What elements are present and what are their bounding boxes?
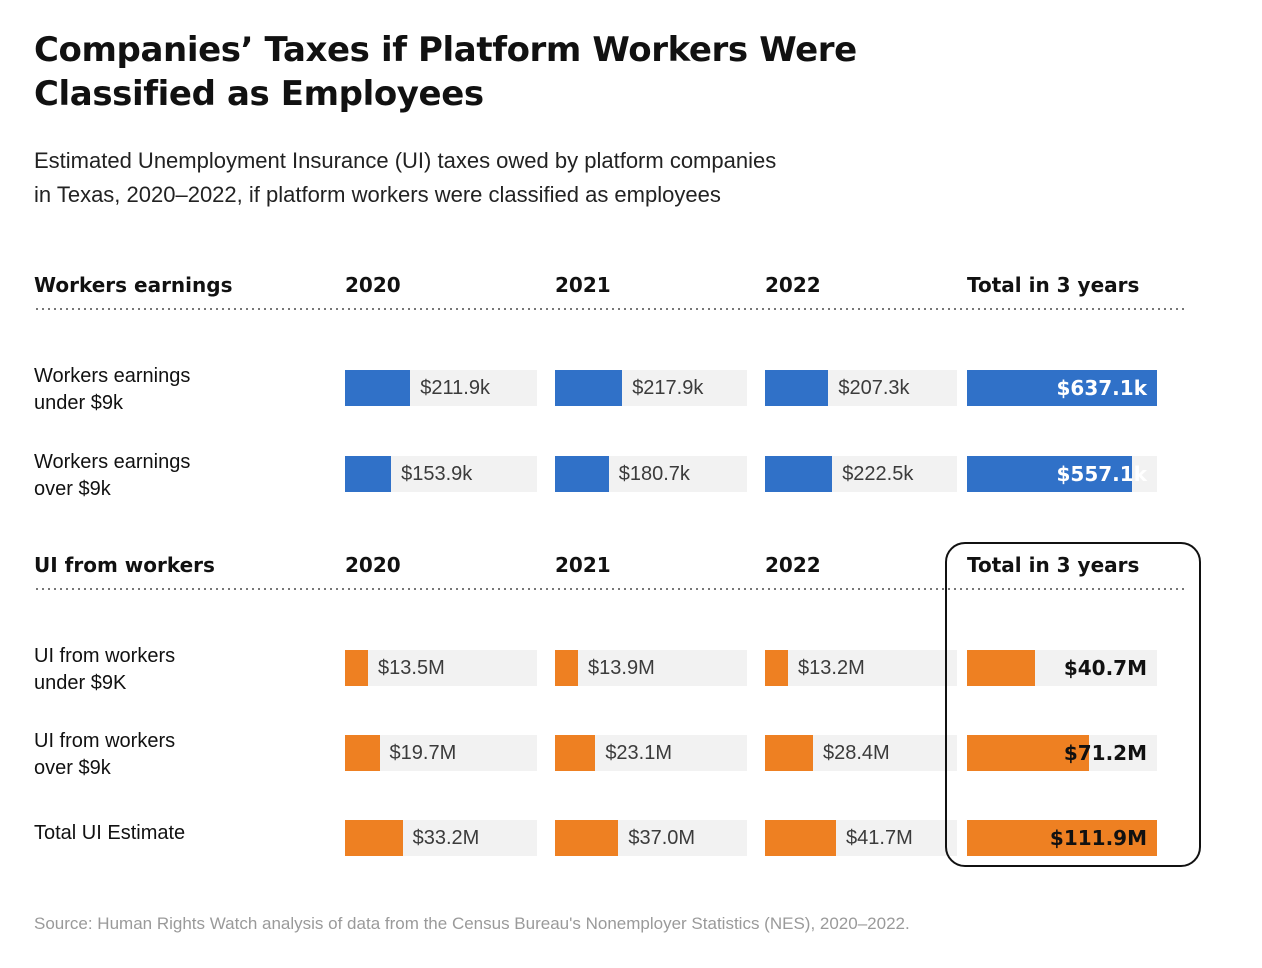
bar-cell: $217.9k [555,370,747,406]
bar-value-label: $37.0M [618,820,695,856]
bar-value-label: $180.7k [609,456,690,492]
row-label: UI from workers over $9k [34,728,175,782]
total-highlight-box [945,542,1201,867]
row-label: Total UI Estimate [34,820,185,847]
bar-cell: $33.2M [345,820,537,856]
bar-value-label: $23.1M [595,735,672,771]
bar-fill [967,650,1035,686]
bar-fill [345,820,403,856]
page-subtitle: Estimated Unemployment Insurance (UI) ta… [34,144,1084,212]
bar-cell: $28.4M [765,735,957,771]
bar-fill [555,735,595,771]
bar-value-label: $40.7M [1064,650,1147,686]
column-header-2022: 2022 [765,552,821,578]
bar-fill [765,820,836,856]
bar-cell: $111.9M [967,820,1157,856]
bar-fill [555,456,609,492]
bar-cell: $13.2M [765,650,957,686]
bar-value-label: $71.2M [1064,735,1147,771]
section-workers-earnings: Workers earnings 2020 2021 2022 Total in… [34,272,1184,308]
bar-fill [765,456,832,492]
bar-cell: $211.9k [345,370,537,406]
column-header-total: Total in 3 years [967,552,1139,578]
bar-value-label: $41.7M [836,820,913,856]
section-ui-from-workers: UI from workers 2020 2021 2022 Total in … [34,552,1184,588]
bar-fill [765,735,813,771]
bar-cell: $207.3k [765,370,957,406]
section-header-row: UI from workers 2020 2021 2022 Total in … [34,552,1184,588]
bar-cell: $13.9M [555,650,747,686]
row-label: Workers earnings over $9k [34,449,190,503]
bar-value-label: $19.7M [380,735,457,771]
bar-cell: $19.7M [345,735,537,771]
bar-value-label: $637.1k [1057,370,1147,406]
chart-page: Companies’ Taxes if Platform Workers Wer… [0,0,1262,968]
bar-value-label: $211.9k [410,370,490,406]
bar-cell: $23.1M [555,735,747,771]
bar-cell: $40.7M [967,650,1157,686]
bar-fill [555,650,578,686]
bar-value-label: $13.2M [788,650,865,686]
bar-value-label: $217.9k [622,370,703,406]
section-header-label: Workers earnings [34,272,233,298]
bar-value-label: $111.9M [1050,820,1147,856]
bar-cell: $557.1k [967,456,1157,492]
row-label: Workers earnings under $9k [34,363,190,417]
bar-fill [765,370,828,406]
bar-value-label: $13.5M [368,650,445,686]
column-header-2020: 2020 [345,272,401,298]
bar-value-label: $222.5k [832,456,913,492]
bar-cell: $13.5M [345,650,537,686]
section-header-label: UI from workers [34,552,215,578]
bar-fill [555,370,622,406]
bar-value-label: $207.3k [828,370,909,406]
bar-cell: $71.2M [967,735,1157,771]
page-title: Companies’ Taxes if Platform Workers Wer… [34,28,934,116]
bar-cell: $637.1k [967,370,1157,406]
column-header-2020: 2020 [345,552,401,578]
bar-value-label: $13.9M [578,650,655,686]
bar-fill [765,650,788,686]
header-divider [34,308,1184,310]
header-divider [34,588,1184,590]
section-header-row: Workers earnings 2020 2021 2022 Total in… [34,272,1184,308]
bar-value-label: $28.4M [813,735,890,771]
bar-cell: $222.5k [765,456,957,492]
bar-fill [345,735,380,771]
bar-fill [555,820,618,856]
column-header-2021: 2021 [555,272,611,298]
bar-fill [345,650,368,686]
bar-value-label: $153.9k [391,456,472,492]
column-header-2022: 2022 [765,272,821,298]
bar-cell: $41.7M [765,820,957,856]
bar-fill [345,370,410,406]
row-label: UI from workers under $9K [34,643,175,697]
column-header-2021: 2021 [555,552,611,578]
bar-value-label: $557.1k [1057,456,1147,492]
source-note: Source: Human Rights Watch analysis of d… [34,912,910,936]
bar-value-label: $33.2M [403,820,480,856]
bar-fill [345,456,391,492]
bar-cell: $153.9k [345,456,537,492]
bar-cell: $180.7k [555,456,747,492]
bar-cell: $37.0M [555,820,747,856]
column-header-total: Total in 3 years [967,272,1139,298]
